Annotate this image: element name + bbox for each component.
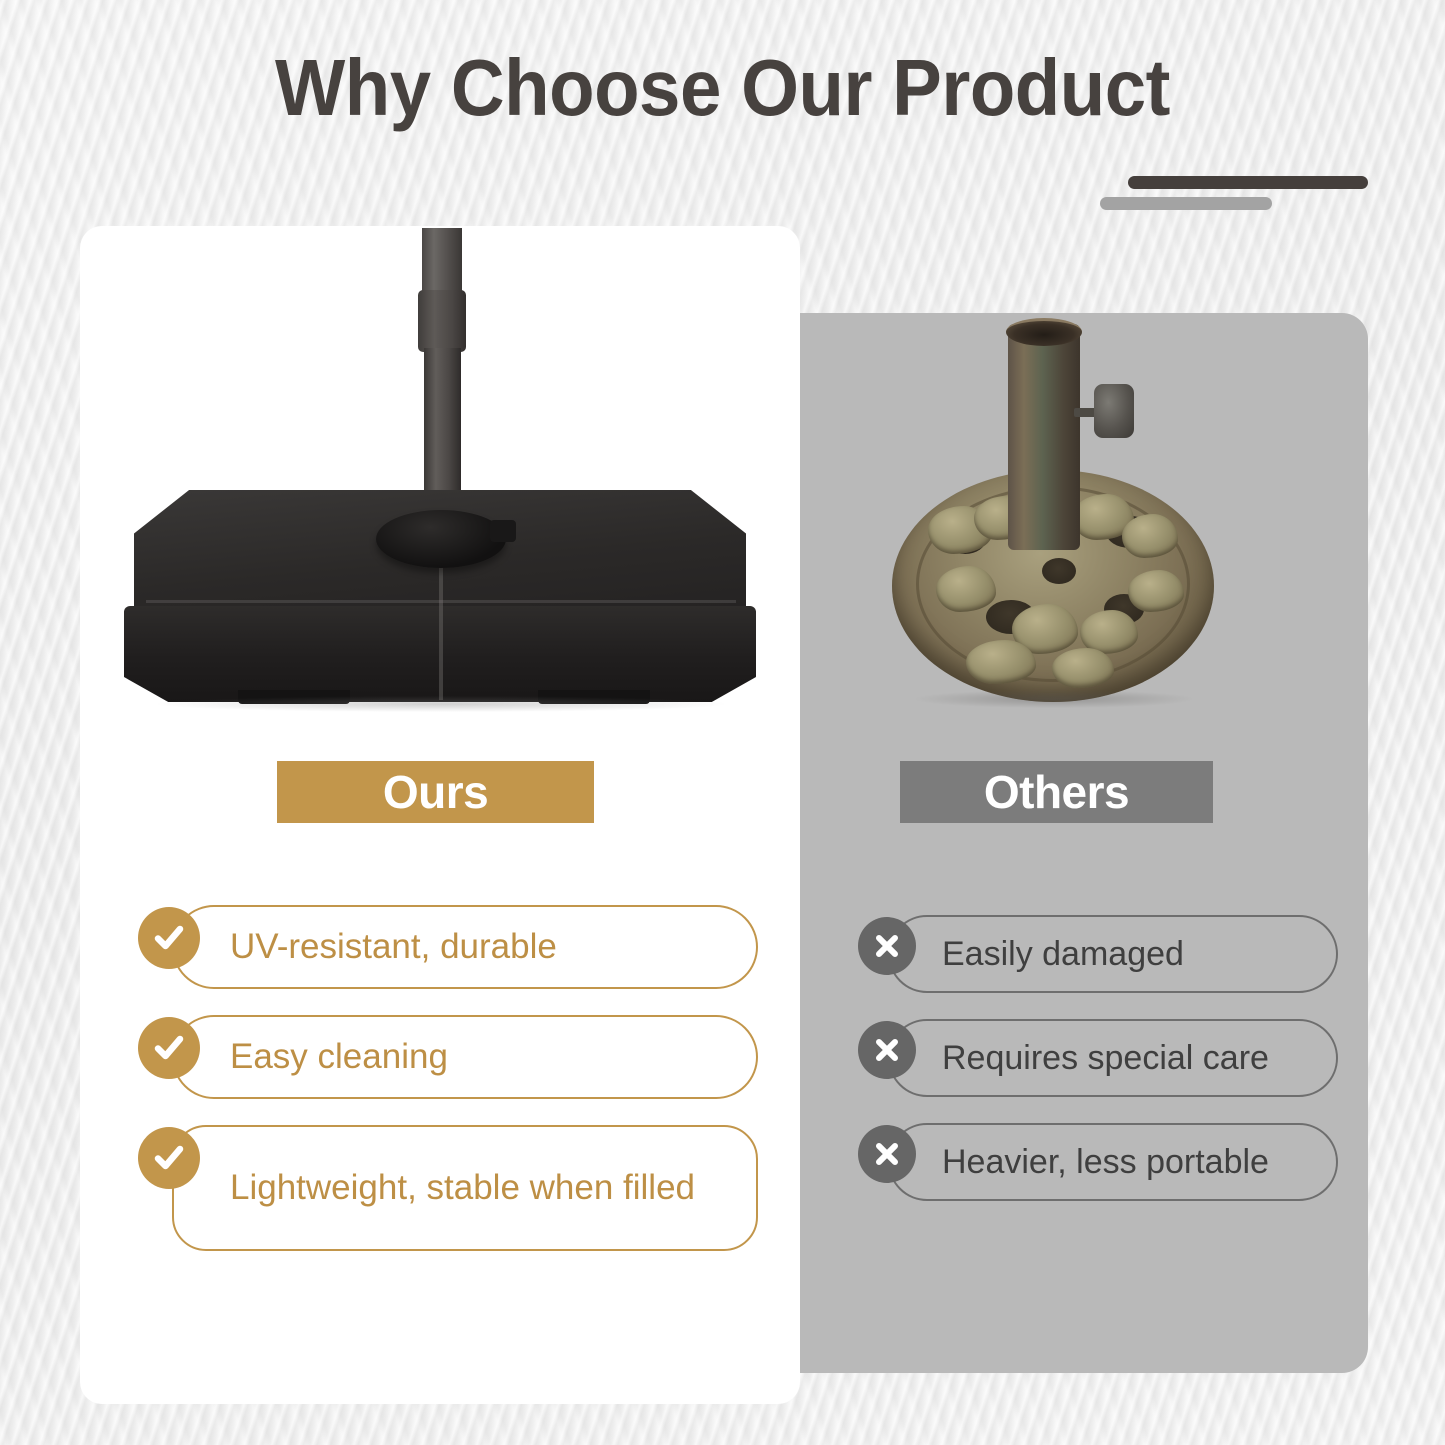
floral-relief-leaf — [966, 640, 1036, 684]
others-product-shadow — [916, 690, 1192, 708]
list-item[interactable]: Easy cleaning — [138, 1015, 758, 1099]
page-title: Why Choose Our Product — [51, 46, 1395, 130]
thumb-screw-knob — [1094, 384, 1134, 438]
base-hub-knob — [490, 520, 516, 542]
check-icon — [138, 1017, 200, 1079]
ours-feature-list: UV-resistant, durable Easy cleaning Ligh… — [138, 905, 758, 1251]
cross-icon — [858, 1125, 916, 1183]
list-item[interactable]: UV-resistant, durable — [138, 905, 758, 989]
cross-icon — [858, 917, 916, 975]
floral-relief-leaf — [1128, 570, 1184, 612]
base-hub-collar — [376, 510, 506, 568]
feature-pill: Heavier, less portable — [888, 1123, 1338, 1201]
umbrella-pole-collar — [418, 290, 466, 352]
others-product-image — [866, 318, 1302, 718]
list-item[interactable]: Heavier, less portable — [858, 1123, 1338, 1201]
base-horizontal-seam — [146, 600, 736, 603]
check-icon — [138, 907, 200, 969]
check-icon — [138, 1127, 200, 1189]
feature-pill: Easy cleaning — [172, 1015, 758, 1099]
others-feature-list: Easily damaged Requires special care Hea… — [858, 915, 1338, 1201]
accent-rule-light — [1100, 197, 1272, 210]
others-label-bar: Others — [900, 761, 1213, 823]
feature-pill: UV-resistant, durable — [172, 905, 758, 989]
list-item[interactable]: Requires special care — [858, 1019, 1338, 1097]
ours-product-image — [86, 228, 794, 718]
list-item[interactable]: Lightweight, stable when filled — [138, 1125, 758, 1251]
cast-iron-tube — [1008, 324, 1080, 550]
ours-product-shadow — [158, 696, 724, 712]
ours-label-bar: Ours — [277, 761, 594, 823]
feature-pill: Easily damaged — [888, 915, 1338, 993]
openwork-hole — [1042, 558, 1076, 584]
accent-rule-dark — [1128, 176, 1368, 189]
list-item[interactable]: Easily damaged — [858, 915, 1338, 993]
floral-relief-leaf — [1052, 648, 1114, 688]
cross-icon — [858, 1021, 916, 1079]
floral-relief-leaf — [1122, 514, 1178, 558]
floral-relief-leaf — [936, 566, 996, 612]
cast-iron-tube-mouth — [1006, 318, 1082, 346]
feature-pill: Requires special care — [888, 1019, 1338, 1097]
feature-pill: Lightweight, stable when filled — [172, 1125, 758, 1251]
